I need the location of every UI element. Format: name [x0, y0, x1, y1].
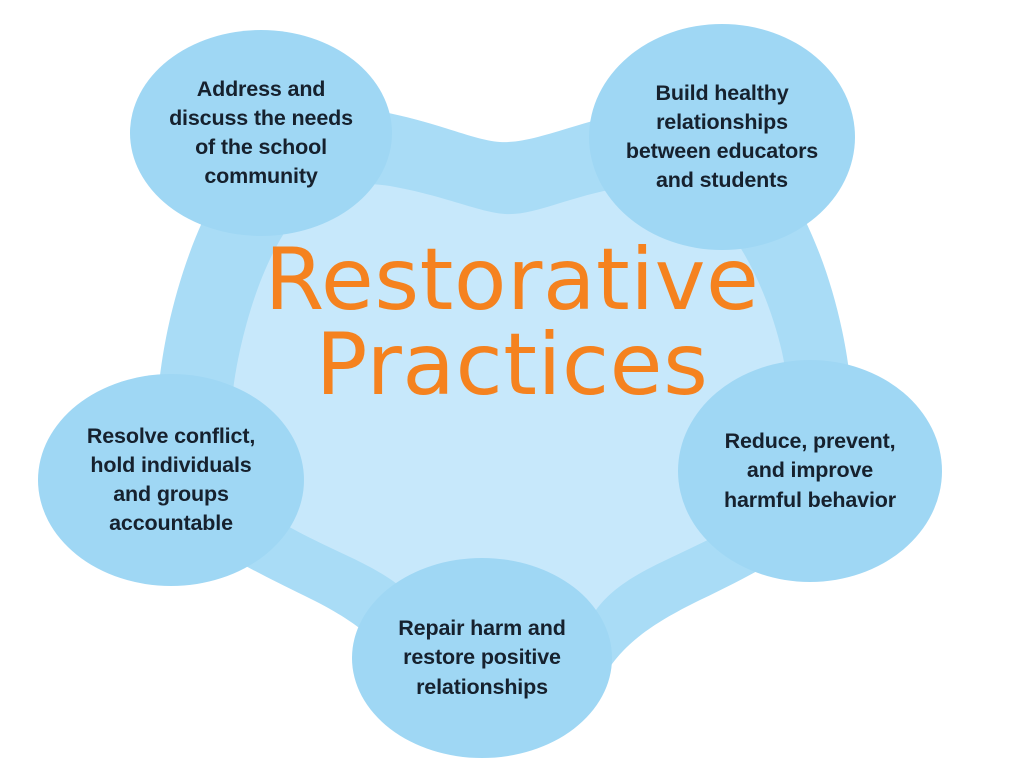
bubble-reduce-prevent-improve[interactable]: Reduce, prevent, and improve harmful beh…: [678, 360, 942, 582]
bubble-build-healthy-relationships[interactable]: Build healthy relationships between educ…: [589, 24, 855, 250]
bubble-label: Reduce, prevent, and improve harmful beh…: [678, 427, 942, 515]
diagram-canvas: RestorativePractices Address and discuss…: [0, 0, 1024, 771]
bubble-label: Resolve conflict, hold individuals and g…: [38, 422, 304, 539]
bubble-label: Repair harm and restore positive relatio…: [352, 614, 612, 702]
bubble-repair-harm[interactable]: Repair harm and restore positive relatio…: [352, 558, 612, 758]
bubble-label: Build healthy relationships between educ…: [589, 79, 855, 196]
bubble-label: Address and discuss the needs of the sch…: [130, 75, 392, 192]
bubble-address-discuss-needs[interactable]: Address and discuss the needs of the sch…: [130, 30, 392, 236]
bubble-resolve-conflict[interactable]: Resolve conflict, hold individuals and g…: [38, 374, 304, 586]
